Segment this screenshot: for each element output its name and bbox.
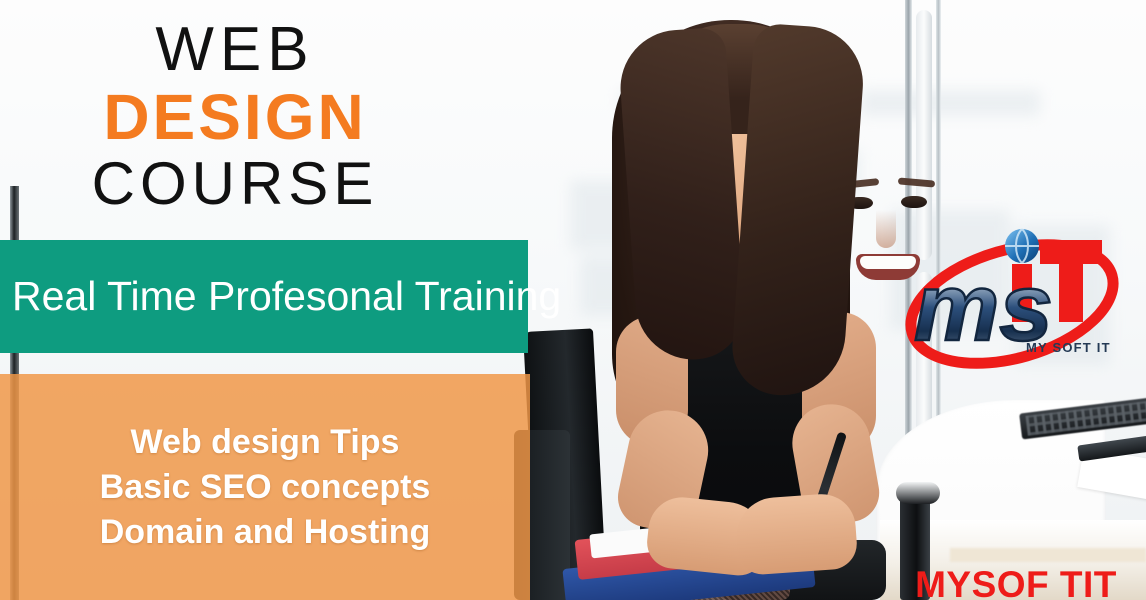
feature-item-basic-seo-concepts: Basic SEO concepts	[100, 468, 431, 507]
headline: WEB DESIGN COURSE	[0, 18, 470, 215]
mysoftit-logo: ms MY SOFT IT MYSOF TIT	[900, 212, 1132, 402]
tagline-text: Real Time Profesonal Training	[0, 273, 561, 320]
feature-item-web-design-tips: Web design Tips	[131, 423, 400, 462]
nose	[876, 210, 896, 248]
headline-line-design: DESIGN	[0, 84, 470, 151]
eye-right	[901, 196, 927, 208]
feature-item-domain-and-hosting: Domain and Hosting	[100, 513, 431, 552]
logo-tagline-text: MY SOFT IT	[1026, 340, 1111, 355]
desk-edge	[950, 548, 1146, 562]
feature-list-panel: Web design Tips Basic SEO concepts Domai…	[0, 374, 530, 600]
headline-line-web: WEB	[0, 18, 470, 82]
tagline-banner: Real Time Profesonal Training	[0, 240, 528, 353]
woman-photo	[520, 0, 920, 600]
headline-line-course: COURSE	[0, 153, 470, 215]
hand-right	[733, 492, 858, 576]
logo-mark: ms MY SOFT IT	[900, 212, 1132, 402]
web-design-course-banner: WEB DESIGN COURSE Real Time Profesonal T…	[0, 0, 1146, 600]
letter-t-stem	[1059, 240, 1083, 322]
hair-left	[617, 27, 748, 364]
company-name: MYSOF TIT	[900, 564, 1132, 600]
